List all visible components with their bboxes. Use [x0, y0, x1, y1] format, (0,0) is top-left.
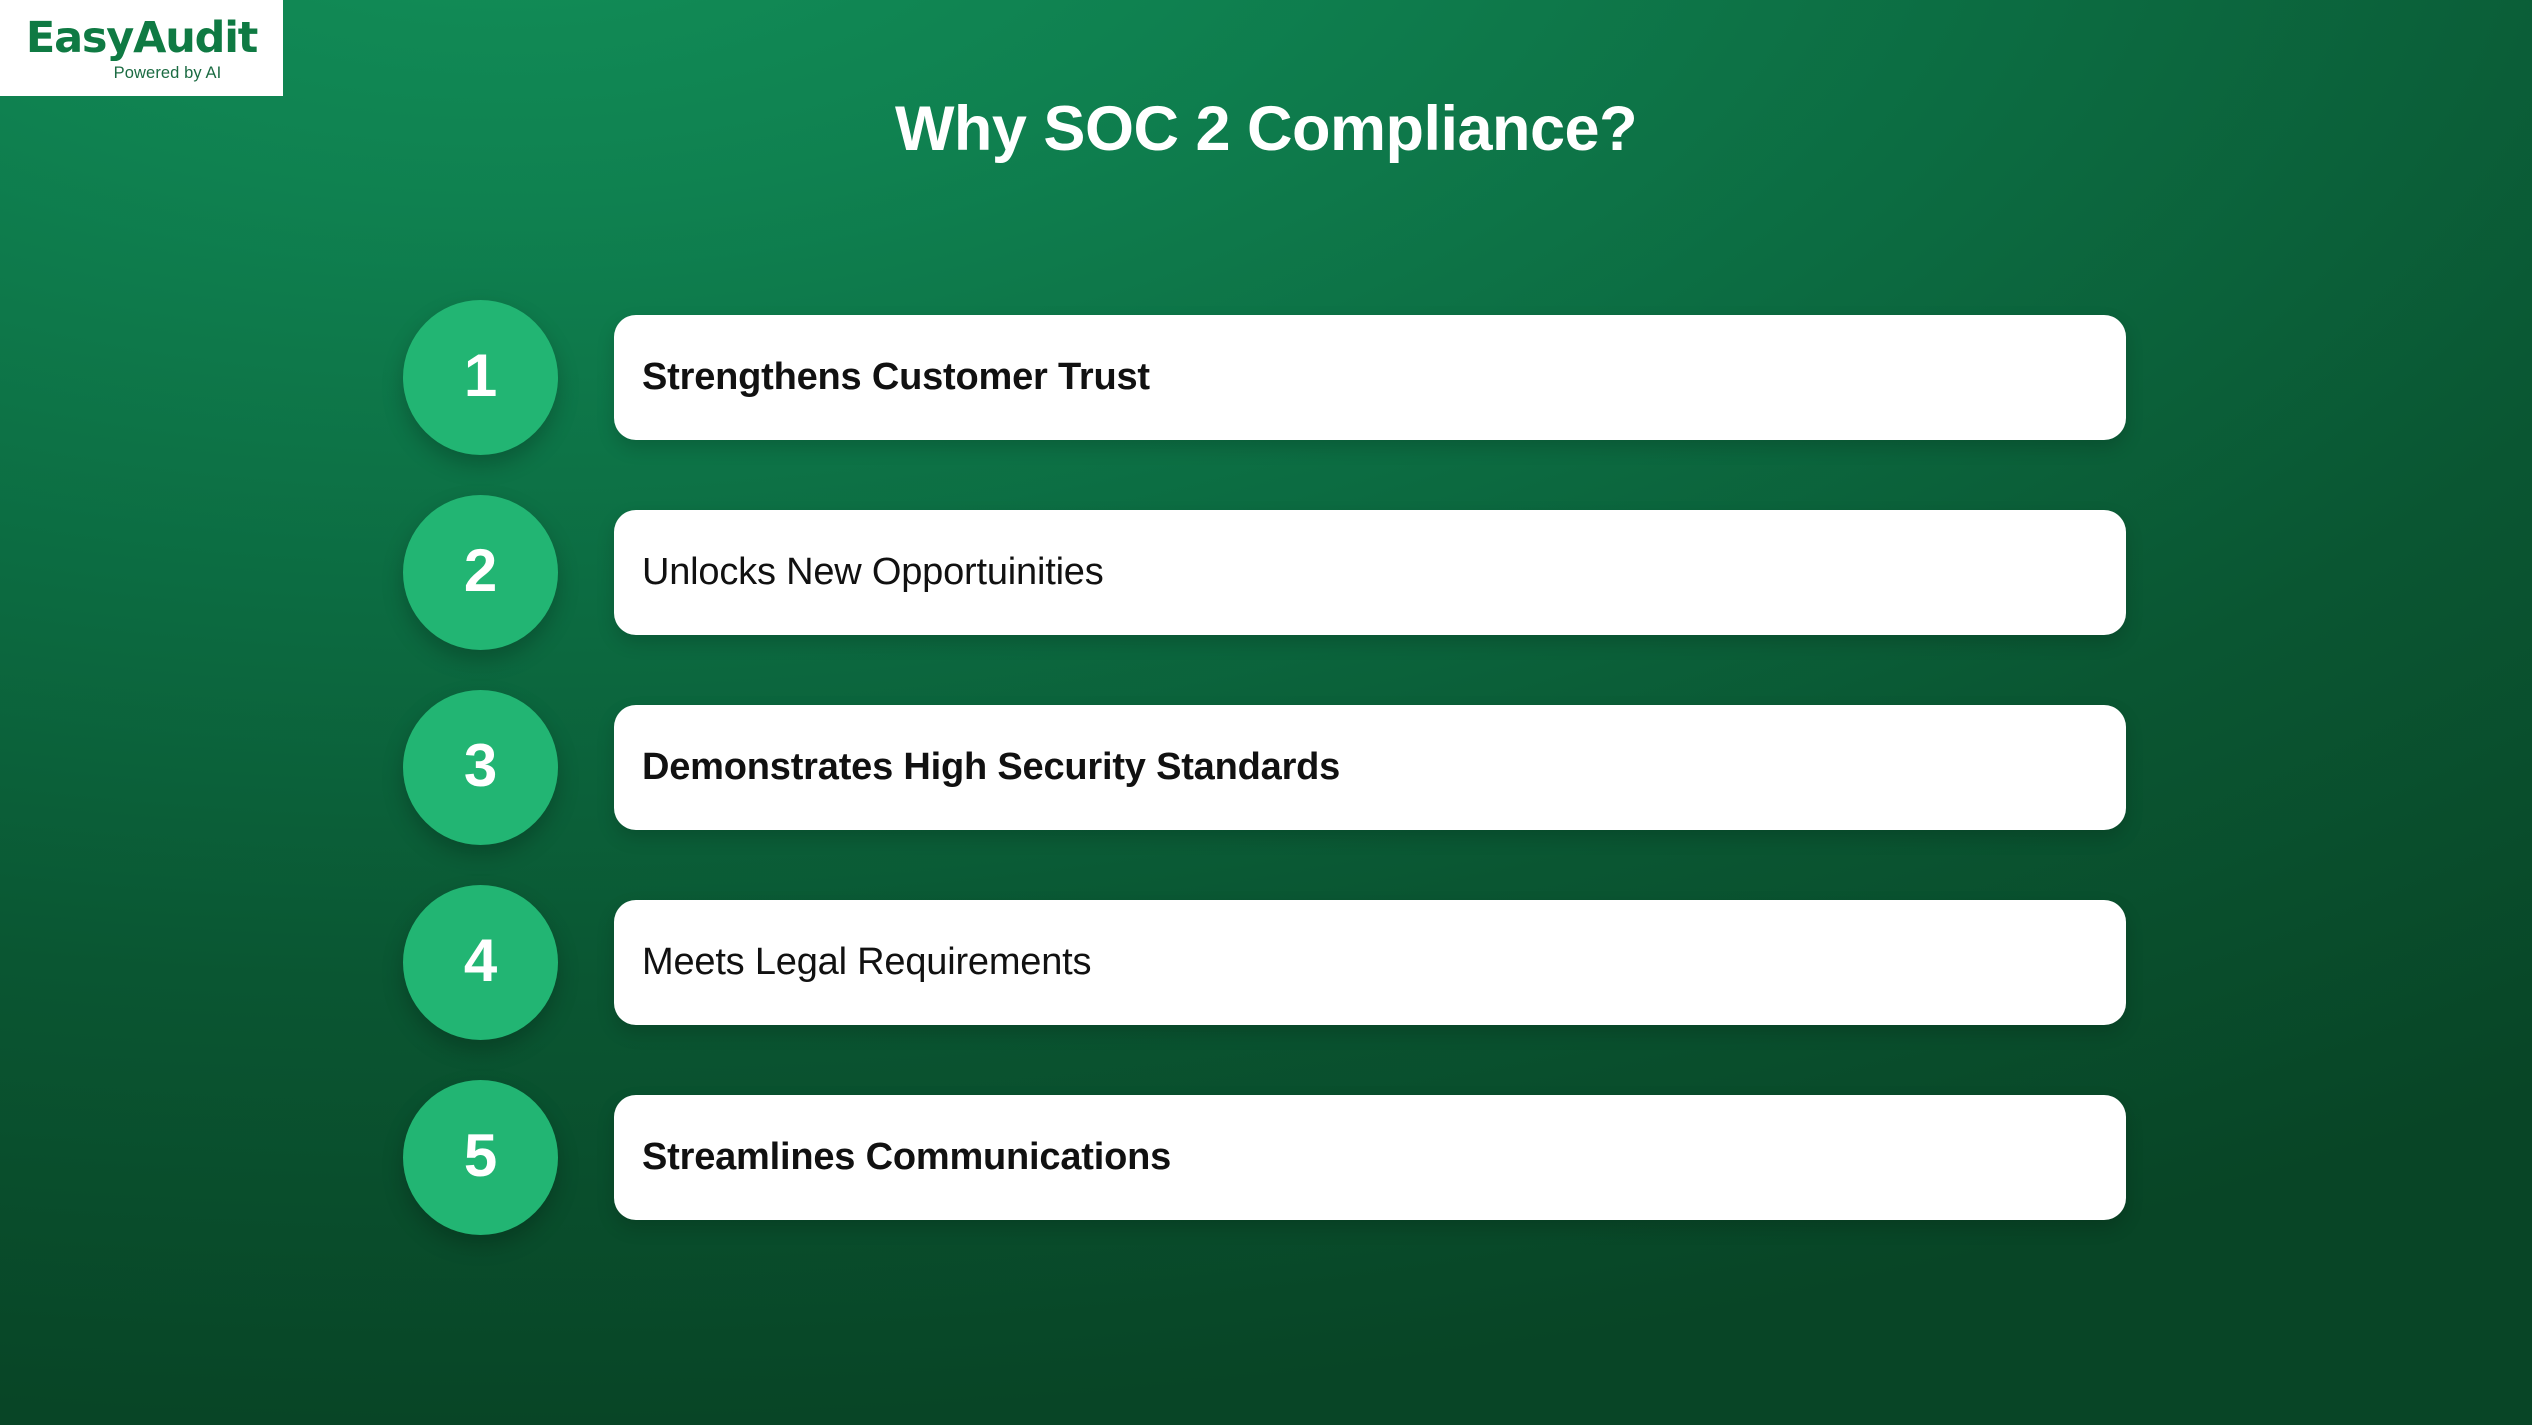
list-item-label: Demonstrates High Security Standards [642, 746, 1340, 790]
list-item-number-badge: 1 [403, 300, 558, 455]
list-item-number-badge: 5 [403, 1080, 558, 1235]
list-item: 3 Demonstrates High Security Standards [0, 690, 2532, 846]
list-item-card: Meets Legal Requirements [614, 900, 2126, 1025]
list-item-label: Unlocks New Opportuinities [642, 551, 1104, 595]
page-title: Why SOC 2 Compliance? [0, 95, 2532, 164]
list-item: 1 Strengthens Customer Trust [0, 300, 2532, 456]
slide-canvas: EasyAudit Powered by AI Why SOC 2 Compli… [0, 0, 2532, 1425]
list-item: 2 Unlocks New Opportuinities [0, 495, 2532, 651]
list-item-card: Strengthens Customer Trust [614, 315, 2126, 440]
benefits-list: 1 Strengthens Customer Trust 2 Unlocks N… [0, 300, 2532, 1275]
list-item: 5 Streamlines Communications [0, 1080, 2532, 1236]
list-item-card: Unlocks New Opportuinities [614, 510, 2126, 635]
logo-wordmark: EasyAudit [26, 17, 257, 60]
list-item-number-badge: 2 [403, 495, 558, 650]
list-item: 4 Meets Legal Requirements [0, 885, 2532, 1041]
list-item-number-badge: 3 [403, 690, 558, 845]
list-item-card: Streamlines Communications [614, 1095, 2126, 1220]
list-item-card: Demonstrates High Security Standards [614, 705, 2126, 830]
logo-tagline: Powered by AI [114, 65, 222, 82]
list-item-number-badge: 4 [403, 885, 558, 1040]
list-item-label: Meets Legal Requirements [642, 941, 1091, 985]
brand-logo: EasyAudit Powered by AI [0, 0, 283, 96]
list-item-label: Strengthens Customer Trust [642, 356, 1150, 400]
list-item-label: Streamlines Communications [642, 1136, 1171, 1180]
